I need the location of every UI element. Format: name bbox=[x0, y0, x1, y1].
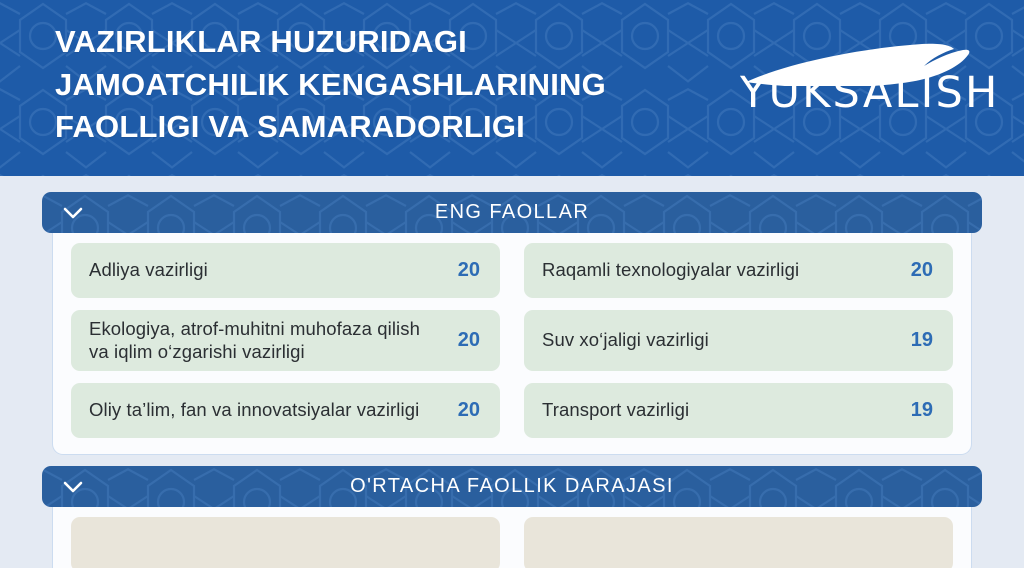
row-label: Raqamli texnologiyalar vazirligi bbox=[542, 259, 799, 282]
logo-wordmark: YUKSALISH bbox=[740, 72, 972, 115]
list-item[interactable]: Oliy ta’lim, fan va innovatsiyalar vazir… bbox=[71, 383, 500, 438]
page-header: VAZIRLIKLAR HUZURIDAGI JAMOATCHILIK KENG… bbox=[0, 0, 1024, 176]
section-card-ortacha-faollik bbox=[52, 503, 972, 568]
sections-container: ENG FAOLLAR Adliya vazirligi 20 Raqamli … bbox=[0, 176, 1024, 568]
section-title: ENG FAOLLAR bbox=[42, 201, 982, 224]
section-card-eng-faollar: Adliya vazirligi 20 Raqamli texnologiyal… bbox=[52, 229, 972, 455]
row-label: Transport vazirligi bbox=[542, 399, 689, 422]
row-label: Ekologiya, atrof-muhitni muhofaza qilish… bbox=[89, 318, 444, 363]
list-item[interactable]: Raqamli texnologiyalar vazirligi 20 bbox=[524, 243, 953, 298]
list-item[interactable]: Transport vazirligi 19 bbox=[524, 383, 953, 438]
row-label: Oliy ta’lim, fan va innovatsiyalar vazir… bbox=[89, 399, 419, 422]
list-item[interactable] bbox=[524, 517, 953, 568]
section-header-eng-faollar[interactable]: ENG FAOLLAR bbox=[42, 192, 982, 233]
yuksalish-logo: YUKSALISH bbox=[740, 42, 972, 128]
row-value: 20 bbox=[458, 329, 480, 352]
row-value: 20 bbox=[458, 259, 480, 282]
row-value: 19 bbox=[911, 329, 933, 352]
section-ortacha-faollik-darajasi: O'RTACHA FAOLLIK DARAJASI bbox=[42, 466, 982, 568]
section-header-ortacha-faollik[interactable]: O'RTACHA FAOLLIK DARAJASI bbox=[42, 466, 982, 507]
row-value: 20 bbox=[458, 399, 480, 422]
row-value: 19 bbox=[911, 399, 933, 422]
section-title: O'RTACHA FAOLLIK DARAJASI bbox=[42, 475, 982, 498]
section-eng-faollar: ENG FAOLLAR Adliya vazirligi 20 Raqamli … bbox=[42, 192, 982, 455]
row-label: Suv xo‘jaligi vazirligi bbox=[542, 329, 709, 352]
row-value: 20 bbox=[911, 259, 933, 282]
list-item[interactable] bbox=[71, 517, 500, 568]
row-label: Adliya vazirligi bbox=[89, 259, 208, 282]
list-item[interactable]: Suv xo‘jaligi vazirligi 19 bbox=[524, 310, 953, 371]
page-title: VAZIRLIKLAR HUZURIDAGI JAMOATCHILIK KENG… bbox=[55, 21, 606, 148]
list-item[interactable]: Ekologiya, atrof-muhitni muhofaza qilish… bbox=[71, 310, 500, 371]
list-item[interactable]: Adliya vazirligi 20 bbox=[71, 243, 500, 298]
